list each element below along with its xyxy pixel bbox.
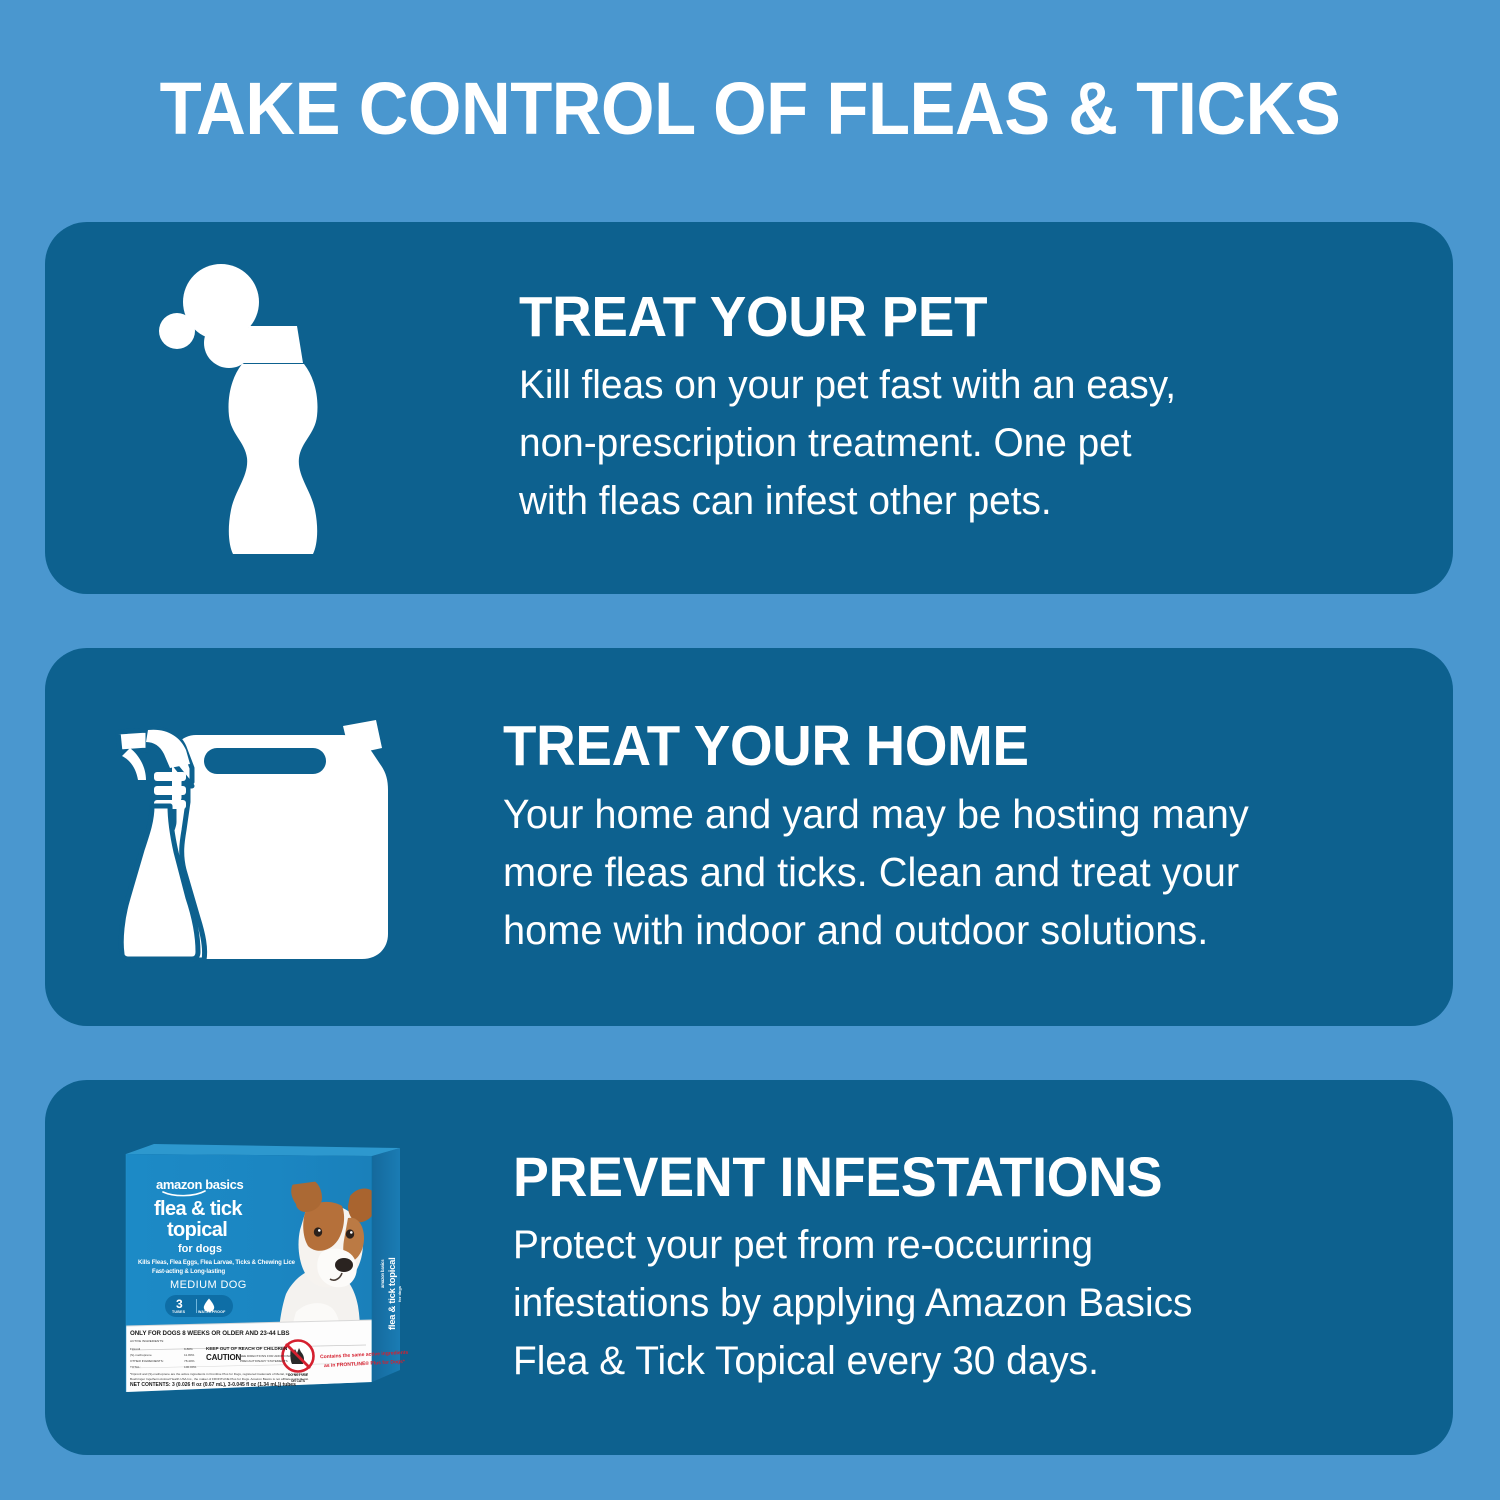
card-3-text-line-3: Flea & Tick Topical every 30 days. — [513, 1332, 1415, 1390]
label-caution: CAUTION — [206, 1353, 241, 1362]
spray-bottle-and-jug-icon — [100, 702, 420, 972]
card-prevent-infestations: amazon basics flea & tick topical for do… — [45, 1080, 1453, 1455]
label-active-ingredients: ACTIVE INGREDIENTS: — [130, 1339, 164, 1343]
badge-waterproof-label: WATERPROOF — [198, 1310, 226, 1314]
card-2-icon-area — [45, 648, 475, 1026]
box-claim-line-1: Kills Fleas, Flea Eggs, Flea Larvae, Tic… — [138, 1260, 295, 1266]
box-spine-brand: amazon basics — [380, 1259, 385, 1288]
bottle-with-bubbles-icon — [145, 258, 375, 558]
label-ingredient-2-pct: 11.80% — [184, 1353, 194, 1357]
bottle-with-bubbles-svg — [145, 258, 375, 558]
no-cats-text-line-2: ON CATS — [278, 1379, 318, 1383]
label-total-pct: 100.00% — [184, 1365, 196, 1369]
card-2-text: Your home and yard may be hosting many m… — [503, 785, 1425, 959]
card-3-heading: PREVENT INFESTATIONS — [513, 1146, 1406, 1208]
box-spine-sub: for dogs — [397, 1286, 402, 1302]
card-3-body: PREVENT INFESTATIONS Protect your pet fr… — [513, 1080, 1443, 1455]
card-3-text: Protect your pet from re-occurring infes… — [513, 1216, 1415, 1390]
card-treat-your-pet: TREAT YOUR PET Kill fleas on your pet fa… — [45, 222, 1453, 594]
box-badge: 3 TUBES WATERPROOF — [165, 1295, 233, 1317]
card-2-text-line-1: Your home and yard may be hosting many — [503, 785, 1425, 843]
label-heading: ONLY FOR DOGS 8 WEEKS OR OLDER AND 23-44… — [130, 1330, 290, 1337]
card-2-heading: TREAT YOUR HOME — [503, 715, 1415, 777]
card-1-body: TREAT YOUR PET Kill fleas on your pet fa… — [519, 222, 1419, 594]
box-claim-line-2: Fast-acting & Long-lasting — [152, 1269, 225, 1275]
no-cats-text-line-1: DO NOT USE — [278, 1373, 318, 1377]
label-other-ingredients: OTHER INGREDIENTS: — [130, 1359, 164, 1363]
card-3-text-line-1: Protect your pet from re-occurring — [513, 1216, 1415, 1274]
label-ingredient-1: Fipronil — [130, 1347, 140, 1351]
card-1-text-line-1: Kill fleas on your pet fast with an easy… — [519, 356, 1392, 414]
badge-tube-count: 3 — [176, 1297, 183, 1311]
spray-bottle-and-jug-svg — [100, 702, 420, 972]
product-box-image: amazon basics flea & tick topical for do… — [110, 1134, 410, 1402]
card-1-icon-area — [45, 222, 475, 594]
page-title: TAKE CONTROL OF FLEAS & TICKS — [53, 68, 1448, 150]
box-title-line-2: topical — [167, 1220, 227, 1241]
amazon-smile-icon — [162, 1190, 206, 1198]
jug-shape — [172, 720, 388, 959]
label-ingredient-2: (S)-methoprene — [130, 1353, 152, 1357]
badge-divider — [196, 1299, 197, 1313]
label-caution-sub-1: SEE DIRECTIONS FOR ADDITIONAL — [240, 1354, 293, 1358]
card-1-text-line-2: non-prescription treatment. One pet — [519, 414, 1392, 472]
box-size-label: MEDIUM DOG — [170, 1279, 247, 1291]
label-total: TOTAL: — [130, 1365, 141, 1369]
label-keep-out-of-reach: KEEP OUT OF REACH OF CHILDREN — [206, 1346, 287, 1351]
label-ingredient-1-pct: 9.80% — [184, 1347, 193, 1351]
box-subtitle: for dogs — [178, 1243, 222, 1255]
card-3-text-line-2: infestations by applying Amazon Basics — [513, 1274, 1415, 1332]
infographic-page: TAKE CONTROL OF FLEAS & TICKS TREAT YOUR… — [0, 0, 1500, 1500]
box-title-line-1: flea & tick — [154, 1199, 242, 1220]
card-2-body: TREAT YOUR HOME Your home and yard may b… — [503, 648, 1453, 1026]
card-2-text-line-3: home with indoor and outdoor solutions. — [503, 901, 1425, 959]
card-2-text-line-2: more fleas and ticks. Clean and treat yo… — [503, 843, 1425, 901]
label-other-pct: 78.40% — [184, 1359, 195, 1363]
badge-tube-label: TUBES — [172, 1310, 185, 1314]
card-treat-your-home: TREAT YOUR HOME Your home and yard may b… — [45, 648, 1453, 1026]
card-1-text: Kill fleas on your pet fast with an easy… — [519, 356, 1392, 530]
label-caution-sub-2: PRECAUTIONARY STATEMENTS — [240, 1359, 288, 1363]
card-1-heading: TREAT YOUR PET — [519, 286, 1383, 348]
card-3-icon-area: amazon basics flea & tick topical for do… — [45, 1080, 475, 1455]
card-1-text-line-3: with fleas can infest other pets. — [519, 472, 1392, 530]
label-net-contents: NET CONTENTS: 3 (0.026 fl oz (0.67 mL), … — [130, 1382, 296, 1388]
